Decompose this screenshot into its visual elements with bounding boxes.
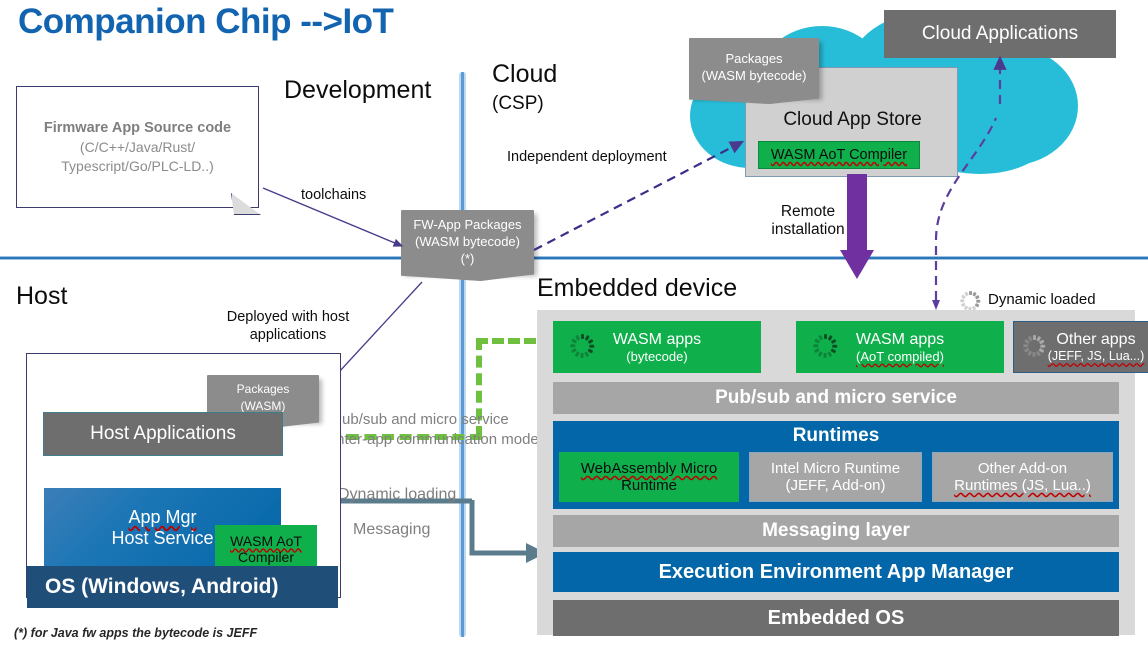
horizontal-divider xyxy=(0,256,1148,260)
execution-app-manager-label: Execution Environment App Manager xyxy=(659,561,1014,584)
app-2-spinner-icon xyxy=(1022,335,1046,357)
fw-packages-line1: FW-App Packages xyxy=(413,216,521,233)
runtime-0-line1: WebAssembly Micro xyxy=(581,460,717,477)
cloud-packages-line1: Packages xyxy=(725,50,782,67)
host-packages-line1: Packages xyxy=(237,381,290,398)
dynamic-loaded-spinner-icon xyxy=(958,291,982,311)
host-aot-line1: WASM AoT xyxy=(230,533,302,549)
runtime-1[interactable]: Intel Micro Runtime (JEFF, Add-on) xyxy=(749,452,922,502)
development-heading: Development xyxy=(284,76,431,105)
messaging-connector xyxy=(472,501,528,553)
runtime-1-line2: (JEFF, Add-on) xyxy=(785,477,885,494)
embedded-device-panel: WASM apps (bytecode) WASM apps (AoT comp… xyxy=(537,310,1135,635)
host-os-block[interactable]: OS (Windows, Android) xyxy=(27,566,338,608)
app-0-spinner-icon xyxy=(569,334,595,358)
app-1-spinner-icon xyxy=(812,334,838,358)
host-heading: Host xyxy=(16,282,67,311)
app-mgr-line1: App Mgr xyxy=(128,507,196,528)
pubsub-label-line1: Pub/sub and micro service xyxy=(332,410,509,429)
embedded-os-block[interactable]: Embedded OS xyxy=(553,600,1119,636)
host-applications-block[interactable]: Host Applications xyxy=(43,412,283,456)
embedded-app-2[interactable]: Other apps (JEFF, JS, Lua...) xyxy=(1013,321,1148,373)
remote-installation-line2: installation xyxy=(771,221,844,239)
toolchains-label: toolchains xyxy=(301,186,366,204)
cloud-packages-callout: Packages (WASM bytecode) xyxy=(689,38,819,96)
cloud-packages-line2: (WASM bytecode) xyxy=(702,67,807,84)
embedded-os-label: Embedded OS xyxy=(768,607,905,630)
pubsub-layer-block[interactable]: Pub/sub and micro service xyxy=(553,382,1119,414)
runtime-2-line1: Other Add-on xyxy=(978,460,1067,477)
dynamic-loading-label: Dynamic loading xyxy=(338,485,456,504)
fw-packages-line3: (*) xyxy=(461,250,475,267)
page-title: Companion Chip -->IoT xyxy=(18,2,393,42)
messaging-layer-block[interactable]: Messaging layer xyxy=(553,515,1119,547)
independent-deployment-label: Independent deployment xyxy=(507,148,667,166)
app-mgr-line2: Host Service xyxy=(111,528,213,549)
runtime-2-line2: Runtimes (JS, Lua..) xyxy=(954,477,1091,494)
cloud-applications-block[interactable]: Cloud Applications xyxy=(884,10,1116,58)
runtimes-container: Runtimes WebAssembly Micro Runtime Intel… xyxy=(553,421,1119,509)
runtime-1-line1: Intel Micro Runtime xyxy=(771,460,900,477)
embedded-app-1[interactable]: WASM apps (AoT compiled) xyxy=(796,321,1004,373)
cloud-app-store-title: Cloud App Store xyxy=(746,106,959,134)
pubsub-layer-label: Pub/sub and micro service xyxy=(715,387,957,409)
host-applications-label: Host Applications xyxy=(90,423,236,445)
messaging-layer-label: Messaging layer xyxy=(762,520,910,542)
dynamic-loaded-arrowhead xyxy=(932,300,940,310)
embedded-app-0[interactable]: WASM apps (bytecode) xyxy=(553,321,761,373)
messaging-label: Messaging xyxy=(353,520,430,539)
cloud-applications-label: Cloud Applications xyxy=(922,23,1078,45)
deployed-line2: applications xyxy=(250,326,327,344)
app-2-sub: (JEFF, JS, Lua...) xyxy=(1048,349,1145,363)
app-0-name: WASM apps xyxy=(613,331,701,349)
app-1-name: WASM apps xyxy=(856,331,944,349)
source-line2: (C/C++/Java/Rust/ xyxy=(80,138,195,157)
vertical-divider xyxy=(459,72,466,637)
host-os-label: OS (Windows, Android) xyxy=(45,575,279,599)
app-1-sub: (AoT compiled) xyxy=(856,349,944,364)
fw-app-packages-callout: FW-App Packages (WASM bytecode) (*) xyxy=(401,210,534,272)
dynamic-loaded-label: Dynamic loaded xyxy=(988,291,1096,309)
host-aot-compiler-block[interactable]: WASM AoT Compiler xyxy=(215,525,317,572)
cloud-aot-compiler-block[interactable]: WASM AoT Compiler xyxy=(758,141,920,169)
runtime-2[interactable]: Other Add-on Runtimes (JS, Lua..) xyxy=(932,452,1113,502)
fw-packages-line2: (WASM bytecode) xyxy=(415,233,520,250)
host-aot-line2: Compiler xyxy=(238,549,294,565)
firmware-source-box: Firmware App Source code (C/C++/Java/Rus… xyxy=(16,86,259,208)
embedded-heading: Embedded device xyxy=(537,274,737,303)
runtime-0-line2: Runtime xyxy=(621,477,677,494)
execution-app-manager-block[interactable]: Execution Environment App Manager xyxy=(553,552,1119,592)
pubsub-label-line2: Inter-app communication models xyxy=(332,430,550,449)
app-2-name: Other apps xyxy=(1056,331,1135,349)
runtime-0[interactable]: WebAssembly Micro Runtime xyxy=(559,452,739,502)
source-line3: Typescript/Go/PLC-LD..) xyxy=(61,157,214,176)
deployed-line1: Deployed with host xyxy=(227,308,350,326)
cloud-aot-compiler-label: WASM AoT Compiler xyxy=(771,147,907,163)
footnote: (*) for Java fw apps the bytecode is JEF… xyxy=(14,626,257,640)
deployed-with-host-label: Deployed with host applications xyxy=(208,308,368,344)
fw-packages-callout-tail xyxy=(401,268,534,281)
source-line1: Firmware App Source code xyxy=(44,118,231,138)
diagram-canvas: Companion Chip -->IoT Cloud Applications… xyxy=(0,0,1148,653)
remote-installation-line1: Remote xyxy=(781,203,835,221)
app-0-sub: (bytecode) xyxy=(626,349,687,364)
remote-installation-label: Remote installation xyxy=(758,203,858,239)
cloud-subheading: (CSP) xyxy=(492,93,544,115)
runtimes-title: Runtimes xyxy=(553,423,1119,449)
embedded-apps-row: WASM apps (bytecode) WASM apps (AoT comp… xyxy=(553,321,1119,373)
cloud-heading: Cloud xyxy=(492,60,557,89)
